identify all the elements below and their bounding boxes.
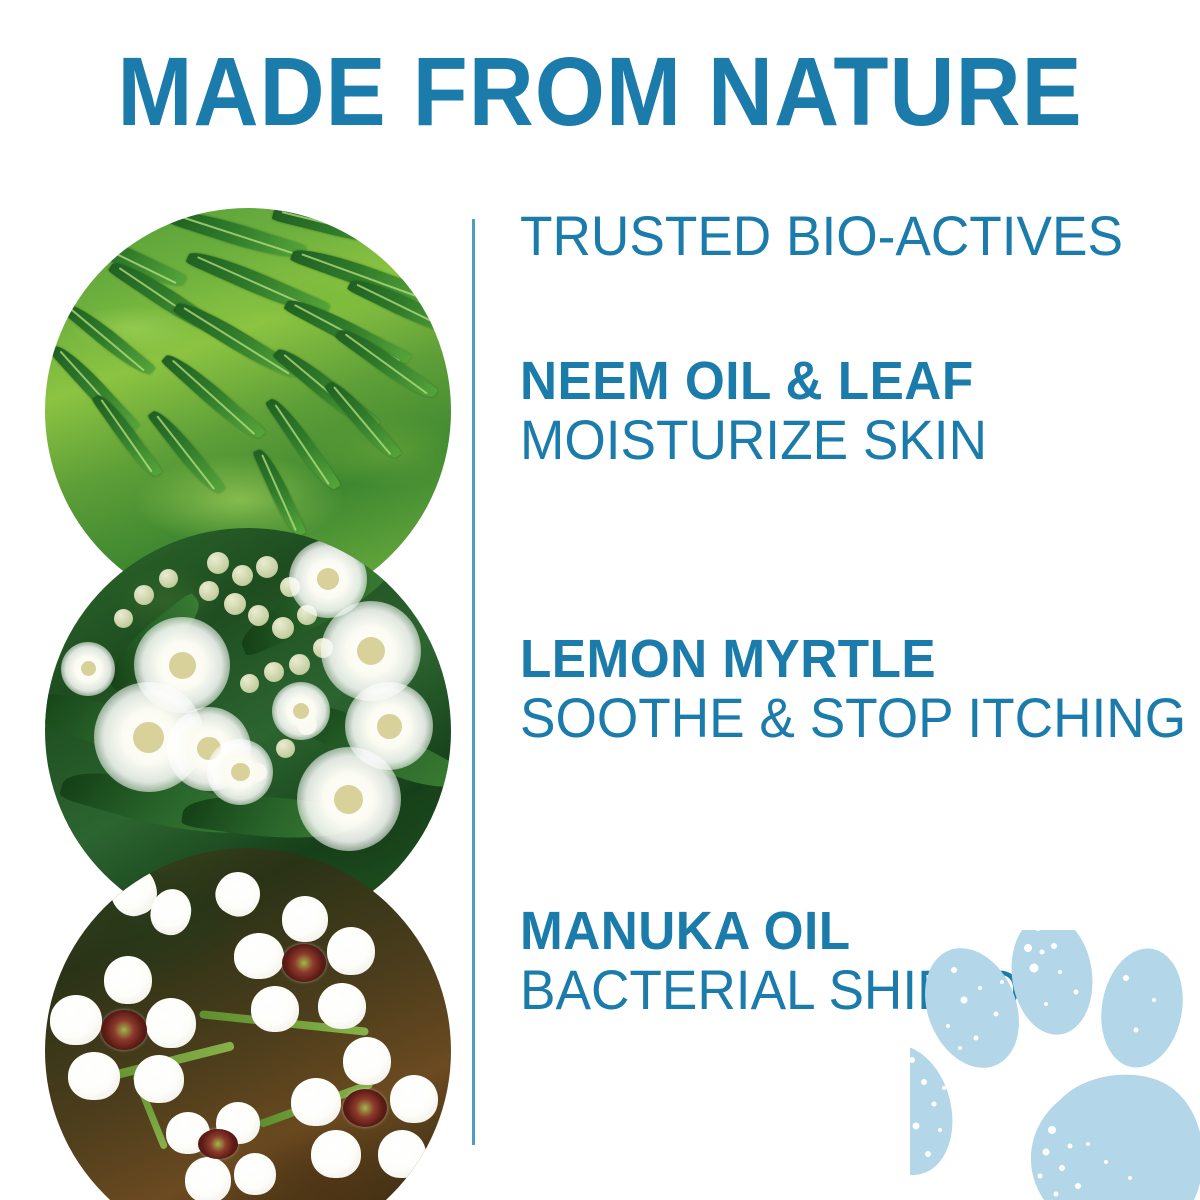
paw-toe-4 bbox=[910, 1035, 966, 1185]
feature-subtext: MOISTURIZE SKIN bbox=[520, 410, 1147, 470]
feature-subtext: BACTERIAL SHIELD bbox=[520, 960, 1147, 1020]
feature-headline: MANUKA OIL bbox=[520, 902, 1147, 960]
page-title: MADE FROM NATURE bbox=[42, 42, 1158, 142]
feature-headline: TRUSTED BIO-ACTIVES bbox=[520, 206, 1147, 266]
feature-lemon-myrtle: LEMON MYRTLE SOOTHE & STOP ITCHING bbox=[520, 630, 1180, 748]
feature-headline: LEMON MYRTLE bbox=[520, 630, 1147, 688]
manuka-flower-photo bbox=[45, 848, 451, 1200]
paw-main-pad bbox=[1031, 1075, 1200, 1200]
feature-neem-oil-and-leaf: NEEM OIL & LEAF MOISTURIZE SKIN bbox=[520, 352, 1180, 470]
made-from-nature-graphic: MADE FROM NATURE bbox=[0, 0, 1200, 1200]
vertical-divider bbox=[472, 219, 475, 1145]
image-circle-manuka bbox=[45, 848, 451, 1200]
feature-subtext: SOOTHE & STOP ITCHING bbox=[520, 688, 1147, 748]
feature-trusted-bio-actives: TRUSTED BIO-ACTIVES bbox=[520, 206, 1180, 266]
feature-manuka-oil: MANUKA OIL BACTERIAL SHIELD bbox=[520, 902, 1180, 1020]
feature-headline: NEEM OIL & LEAF bbox=[520, 352, 1147, 410]
